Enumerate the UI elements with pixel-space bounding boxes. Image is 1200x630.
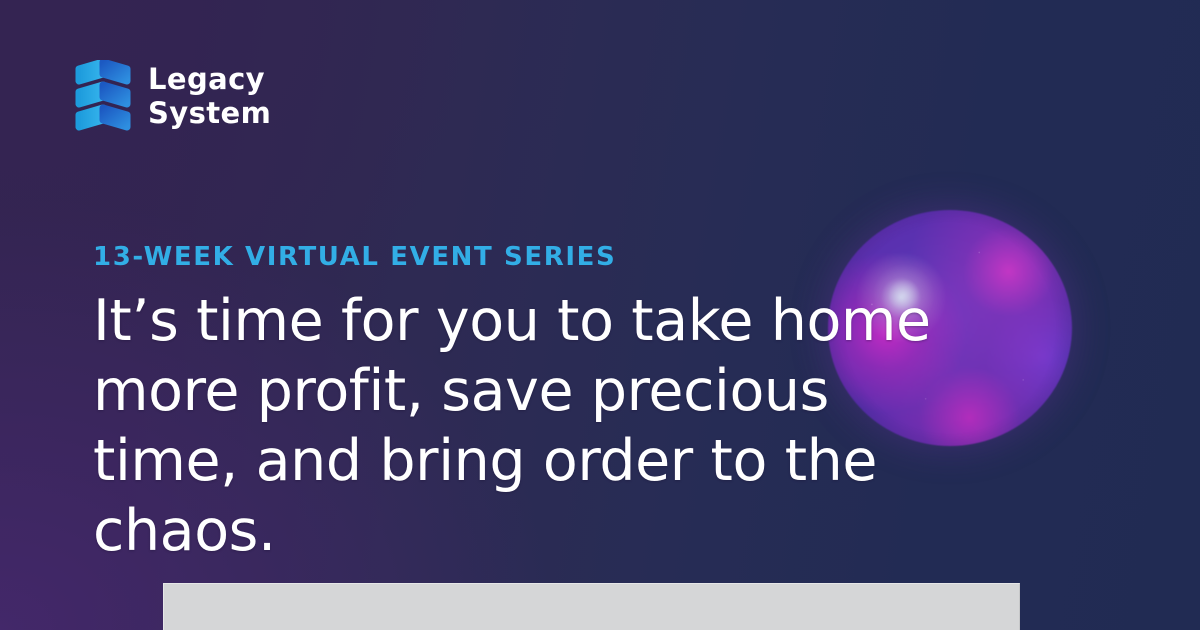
legacy-system-stacked-bars-icon xyxy=(74,60,132,132)
brand-wordmark: Legacy System xyxy=(148,62,271,130)
hero-eyebrow: 13-WEEK VIRTUAL EVENT SERIES xyxy=(93,243,1093,272)
brand-logo[interactable]: Legacy System xyxy=(74,60,271,132)
hero-copy: 13-WEEK VIRTUAL EVENT SERIES It’s time f… xyxy=(93,243,1093,566)
headline-line: more profit, save precious xyxy=(93,356,1093,426)
bottom-content-placeholder xyxy=(163,583,1020,630)
headline-line: chaos. xyxy=(93,496,1093,566)
hero-banner: Legacy System 13-WEEK VIRTUAL EVENT SERI… xyxy=(0,0,1200,630)
headline-line: It’s time for you to take home xyxy=(93,286,1093,356)
page-title: It’s time for you to take home more prof… xyxy=(93,286,1093,566)
headline-line: time, and bring order to the xyxy=(93,426,1093,496)
